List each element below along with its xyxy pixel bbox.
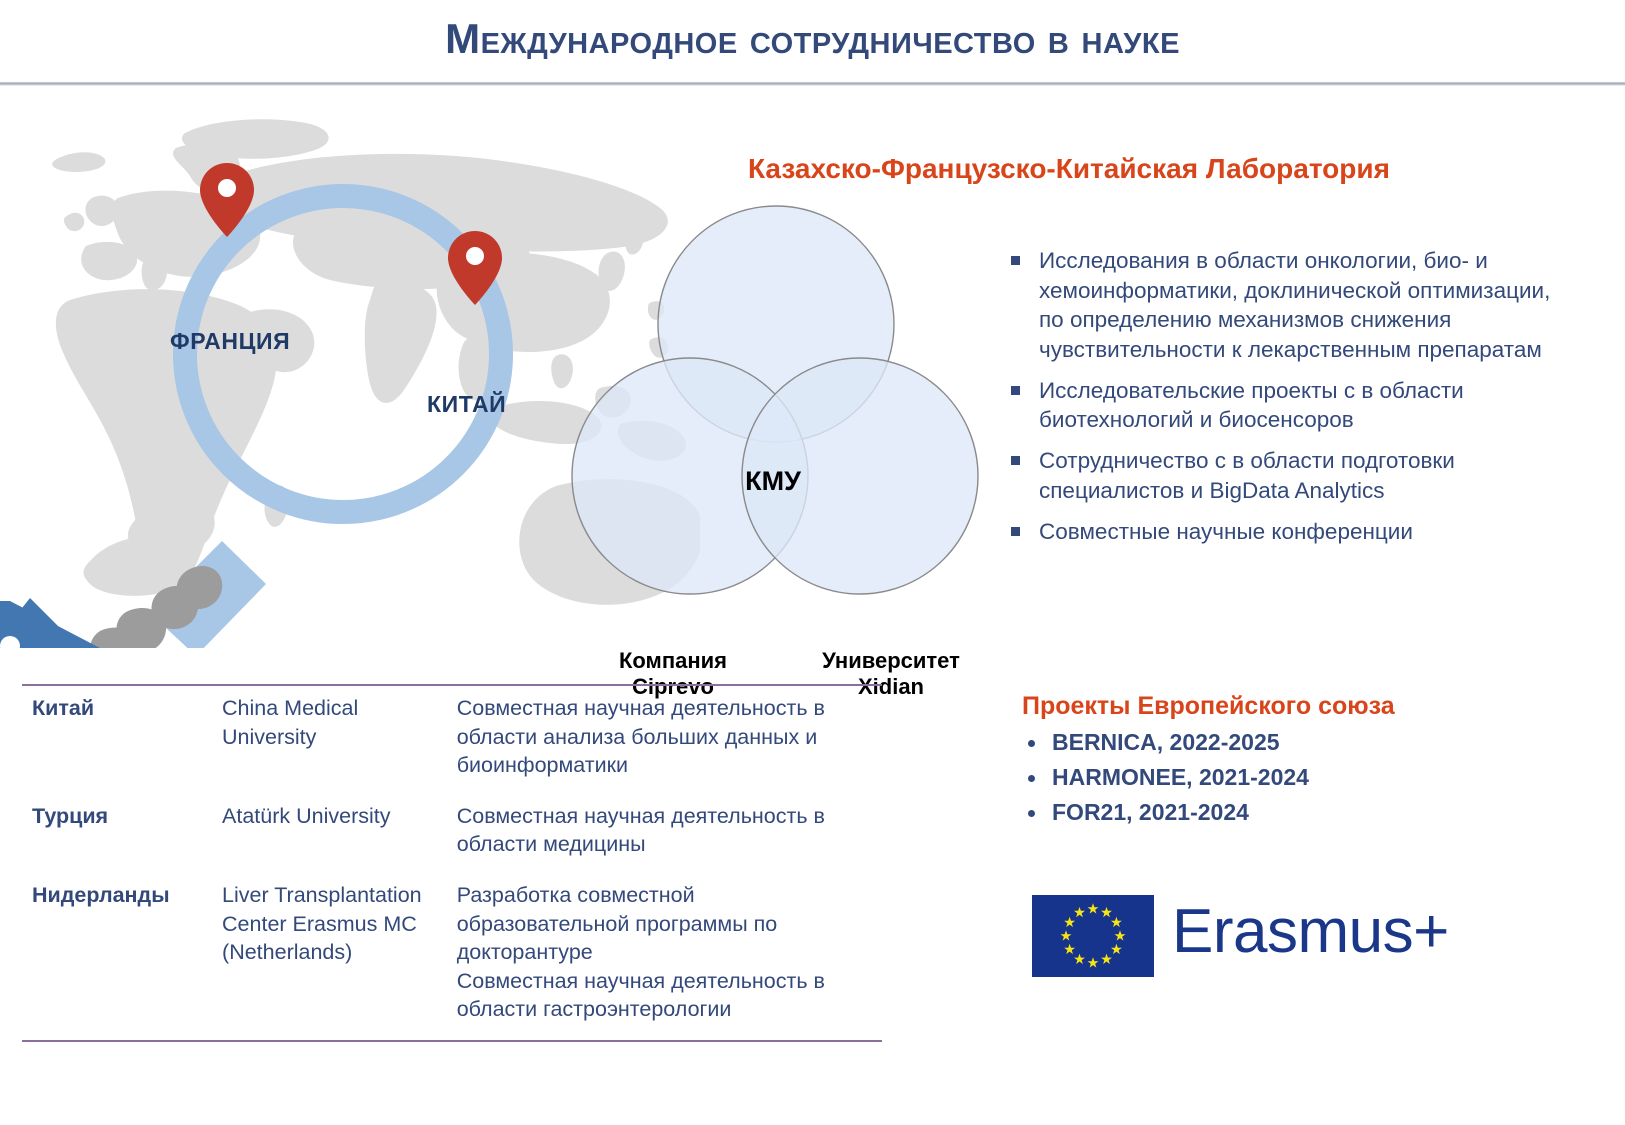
venn-label-xidian-line1: Университет (776, 648, 1006, 674)
cell-country: Китай (22, 686, 212, 794)
eu-project-label: FOR21, 2021-2024 (1052, 799, 1249, 825)
list-item-text: Сотрудничество с в области подготовки сп… (1039, 448, 1455, 503)
round-bullet-icon (1028, 775, 1035, 782)
erasmus-wordmark: Erasmus+ (1172, 901, 1449, 963)
header-divider (0, 82, 1625, 86)
map-pin-france[interactable] (198, 161, 256, 239)
map-label-france: ФРАНЦИЯ (170, 328, 290, 355)
table-row: Китай China Medical University Совместна… (22, 686, 882, 794)
cell-organization: Atatürk University (212, 794, 447, 873)
slide-header: Международное сотрудничество в науке (0, 0, 1625, 85)
cell-country: Турция (22, 794, 212, 873)
list-item: Исследования в области онкологии, био- и… (1005, 246, 1555, 365)
cell-description: Совместная научная деятельность в област… (447, 794, 882, 873)
venn-label-kmu: КМУ (663, 466, 883, 498)
partners-table-wrapper: Китай China Medical University Совместна… (22, 684, 882, 1042)
eu-project-item: HARMONEE, 2021-2024 (1022, 764, 1542, 791)
page-title: Международное сотрудничество в науке (0, 18, 1625, 60)
cell-description: Разработка совместной образовательной пр… (447, 873, 882, 1038)
venn-label-ciprevo-line1: Компания (558, 648, 788, 674)
list-item-text: Совместные научные конференции (1039, 519, 1413, 544)
square-bullet-icon (1011, 527, 1020, 536)
eu-project-label: HARMONEE, 2021-2024 (1052, 764, 1309, 790)
round-bullet-icon (1028, 810, 1035, 817)
eu-projects-title: Проекты Европейского союза (1022, 692, 1542, 721)
list-item-text: Исследования в области онкологии, био- и… (1039, 248, 1550, 362)
map-label-china: КИТАЙ (427, 391, 506, 418)
square-bullet-icon (1011, 456, 1020, 465)
cell-organization: China Medical University (212, 686, 447, 794)
venn-diagram: КМУ Компания Ciprevo Университет Xidian (548, 188, 998, 628)
eu-project-item: BERNICA, 2022-2025 (1022, 729, 1542, 756)
venn-circles-svg (548, 188, 998, 628)
list-item-text: Исследовательские проекты с в области би… (1039, 378, 1464, 433)
square-bullet-icon (1011, 386, 1020, 395)
eu-project-item: FOR21, 2021-2024 (1022, 799, 1542, 826)
lab-bullet-list: Исследования в области онкологии, био- и… (1005, 246, 1555, 557)
list-item: Совместные научные конференции (1005, 517, 1555, 547)
table-row: Нидерланды Liver Transplantation Center … (22, 873, 882, 1038)
erasmus-plus-logo: Erasmus+ (1032, 885, 1452, 990)
square-bullet-icon (1011, 256, 1020, 265)
eu-projects-block: Проекты Европейского союза BERNICA, 2022… (1022, 692, 1542, 834)
table-bottom-rule (22, 1040, 882, 1042)
partners-table: Китай China Medical University Совместна… (22, 686, 882, 1038)
cell-country: Нидерланды (22, 873, 212, 1038)
eu-project-label: BERNICA, 2022-2025 (1052, 729, 1280, 755)
cell-description: Совместная научная деятельность в област… (447, 686, 882, 794)
list-item: Сотрудничество с в области подготовки сп… (1005, 446, 1555, 505)
list-item: Исследовательские проекты с в области би… (1005, 376, 1555, 435)
eu-flag-icon (1032, 895, 1154, 977)
round-bullet-icon (1028, 740, 1035, 747)
lab-heading: Казахско-Французско-Китайская Лаборатори… (748, 152, 1508, 186)
table-row: Турция Atatürk University Совместная нау… (22, 794, 882, 873)
cell-organization: Liver Transplantation Center Erasmus MC … (212, 873, 447, 1038)
map-pin-china[interactable] (446, 229, 504, 307)
